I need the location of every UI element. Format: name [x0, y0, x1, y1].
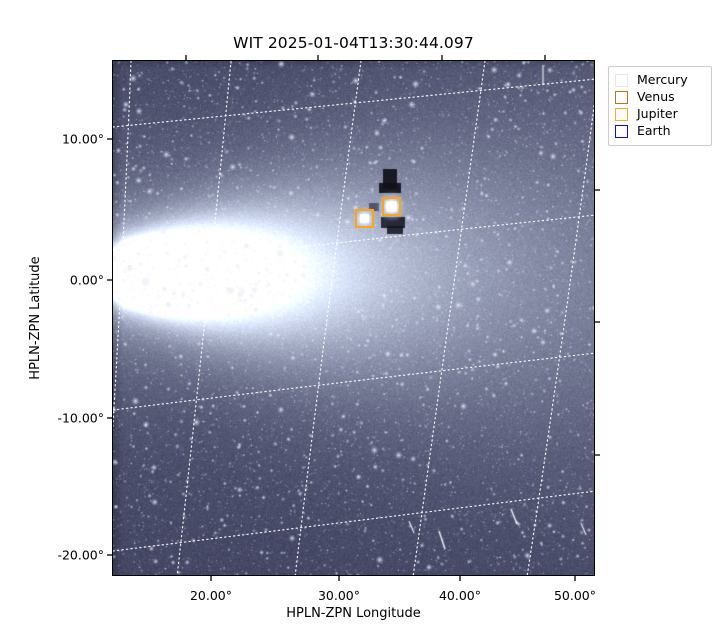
planet-marker-jupiter[interactable] [382, 197, 401, 216]
y-axis-title: HPLN-ZPN Latitude [28, 60, 43, 576]
legend-label-jupiter: Jupiter [637, 108, 678, 121]
planet-marker-venus[interactable] [355, 209, 374, 228]
x-tick-label: 30.00° [318, 588, 360, 603]
legend-swatch-mercury [615, 74, 628, 87]
legend-label-mercury: Mercury [637, 74, 688, 87]
legend-swatch-venus [615, 91, 628, 104]
x-tick-label: 50.00° [554, 588, 596, 603]
x-axis-title: HPLN-ZPN Longitude [112, 606, 595, 621]
page-title: WIT 2025-01-04T13:30:44.097 [112, 34, 595, 52]
x-tick-label: 40.00° [439, 588, 481, 603]
legend-label-venus: Venus [637, 91, 675, 104]
legend-item-mercury[interactable]: Mercury [615, 72, 705, 89]
starfield-canvas [113, 61, 595, 576]
legend-item-venus[interactable]: Venus [615, 89, 705, 106]
legend-item-jupiter[interactable]: Jupiter [615, 106, 705, 123]
x-tick-label: 20.00° [190, 588, 232, 603]
legend-item-earth[interactable]: Earth [615, 123, 705, 140]
figure-canvas: WIT 2025-01-04T13:30:44.097 10.00°0.00°-… [0, 0, 720, 640]
legend-label-earth: Earth [637, 125, 671, 138]
legend-swatch-earth [615, 125, 628, 138]
image-plot-area[interactable] [112, 60, 595, 576]
coronagraph-image [113, 61, 594, 575]
legend: Mercury Venus Jupiter Earth [608, 66, 712, 146]
legend-swatch-jupiter [615, 108, 628, 121]
